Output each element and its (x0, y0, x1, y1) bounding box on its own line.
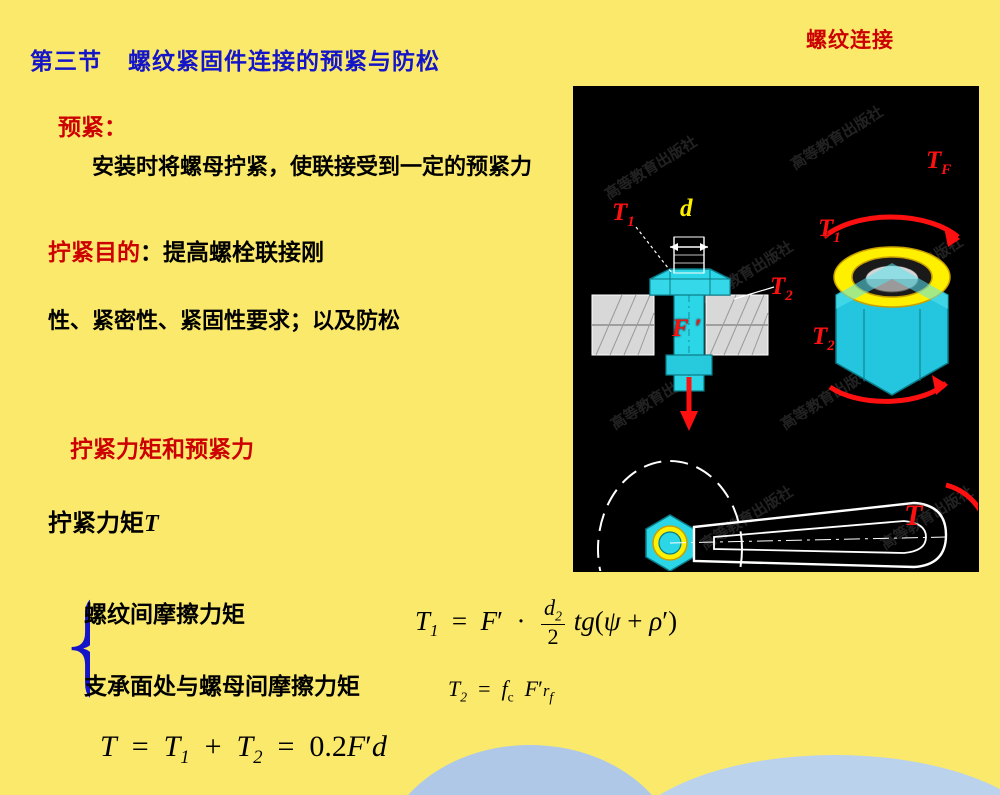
torque-symbol-line: 拧紧力矩T (48, 503, 159, 538)
bottom-nut (666, 355, 712, 375)
label-T-wrench: T (904, 499, 922, 533)
corner-topic-label: 螺纹连接 (806, 24, 894, 54)
label-T2-top: T2 (770, 273, 793, 305)
formula-T2: T2 = fc F′rf (448, 676, 553, 705)
decorative-cloud-left (380, 745, 680, 795)
section-number: 第三节 (30, 48, 102, 74)
label-d: d (680, 195, 693, 223)
list-item-bearing-friction: 支承面处与螺母间摩擦力矩 (84, 667, 360, 701)
torque-heading: 拧紧力矩和预紧力 (70, 430, 254, 464)
label-T1-top: T1 (612, 199, 635, 231)
preload-label: 预紧： (58, 108, 127, 142)
preload-description: 安装时将螺母拧紧，使联接受到一定的预紧力 (92, 152, 592, 182)
torque-arrows-nut (824, 217, 958, 237)
list-item-thread-friction: 螺纹间摩擦力矩 (84, 595, 245, 629)
purpose-text: ：提高螺栓联接刚 (140, 239, 324, 265)
label-T2-nut: T2 (812, 323, 835, 355)
section-title: 第三节螺纹紧固件连接的预紧与防松 (30, 42, 440, 76)
nut-3d (834, 247, 950, 395)
formula-T1: T1 = F′ · d22 tg(ψ + ρ′) (415, 597, 677, 650)
slide-canvas: 螺纹连接 第三节螺纹紧固件连接的预紧与防松 预紧： 安装时将螺母拧紧，使联接受到… (0, 0, 1000, 795)
bolt-shank (674, 295, 704, 391)
wrench-drawing (598, 461, 946, 571)
decorative-cloud-right (620, 755, 1000, 795)
diameter-dimension (670, 237, 708, 273)
figure-panel: 高等教育出版社 高等教育出版社 高等教育出版社 高等教育出版社 高等教育出版社 … (573, 86, 979, 572)
formula-T-total: T = T1 + T2 = 0.2F′d (100, 730, 387, 769)
label-F-prime: F ′ (672, 315, 702, 343)
purpose-line: 拧紧目的：提高螺栓联接刚 (48, 233, 324, 267)
purpose-label: 拧紧目的 (48, 239, 140, 265)
torque-symbol-label: 拧紧力矩 (48, 510, 144, 537)
purpose-continued: 性、紧密性、紧固性要求；以及防松 (48, 305, 518, 337)
section-title-text: 螺纹紧固件连接的预紧与防松 (128, 48, 440, 74)
torque-symbol: T (144, 511, 159, 537)
label-T1-nut: T1 (818, 215, 841, 247)
label-TF: TF (926, 147, 951, 179)
torque-arrow-wrench (946, 485, 978, 571)
